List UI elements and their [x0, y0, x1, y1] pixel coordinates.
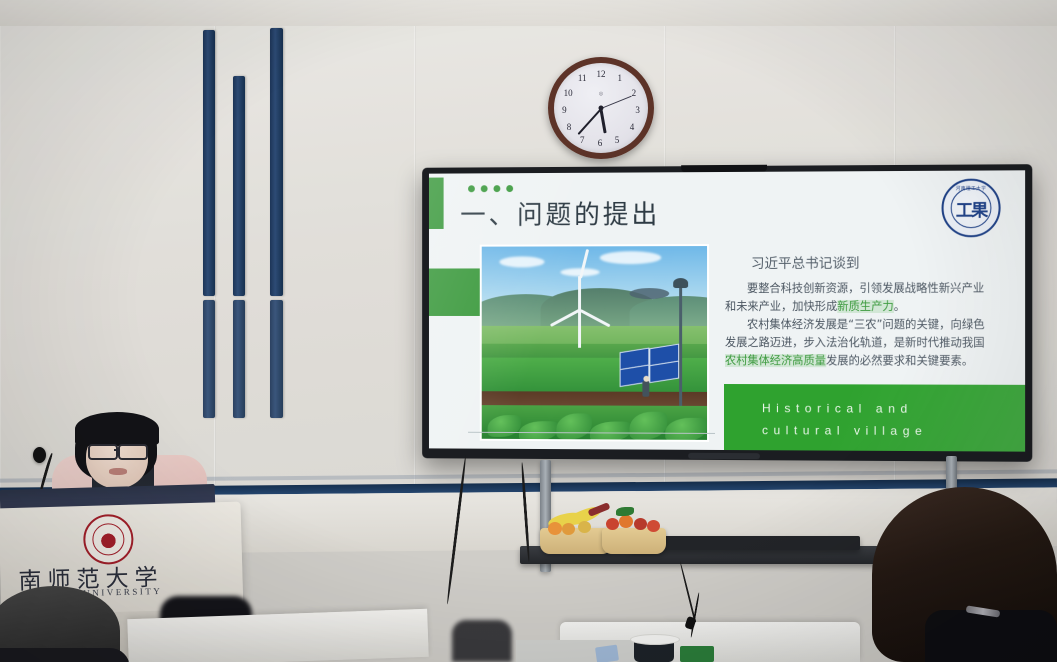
clock-center-pin [599, 106, 604, 111]
green-item [680, 646, 714, 662]
apple-fruit [634, 518, 647, 530]
conference-room-photo: ◎ 12 1 2 3 4 5 6 7 8 9 10 11 一、问题的提出 [0, 0, 1057, 662]
clock-number: 11 [578, 73, 587, 83]
clock-number: 9 [562, 105, 567, 115]
wall-clock: ◎ 12 1 2 3 4 5 6 7 8 9 10 11 [548, 57, 654, 159]
highlight-term-1: 新质生产力 [837, 300, 894, 313]
slide-photo [480, 244, 709, 442]
apple-fruit [619, 515, 633, 528]
farmer-figure [642, 381, 649, 397]
clock-number: 1 [618, 73, 623, 83]
clock-number: 3 [635, 105, 640, 115]
leafy-vegetable [616, 507, 634, 516]
clock-number: 4 [630, 122, 635, 132]
orange-fruit [562, 523, 575, 535]
display-chin [688, 453, 760, 459]
slide-body-text: 习近平总书记谈到 要整合科技创新资源，引领发展战略性新兴产业和未来产业，加快形成… [725, 253, 989, 371]
clock-second-hand [601, 96, 632, 109]
presenter-fringe [75, 412, 159, 446]
slide-title: 一、问题的提出 [460, 194, 660, 232]
slide-footer-text: Historical and cultural village [762, 397, 927, 442]
wall-stripe [233, 76, 245, 296]
presenter-mouth [109, 468, 127, 475]
presenter-glasses-right [118, 444, 148, 460]
wall-stripe [203, 300, 215, 418]
clock-number: 10 [564, 88, 573, 98]
foreground-table-left [127, 609, 428, 662]
presenter-glasses-left [88, 444, 118, 460]
street-lamp-pole [679, 284, 682, 406]
footer-line-1: Historical and [762, 397, 927, 420]
wall-stripe [203, 30, 215, 296]
display-screen: 一、问题的提出 河南理工大学 工果 [429, 170, 1025, 451]
university-seal-logo: 河南理工大学 工果 [942, 179, 1001, 238]
photo-mountain [630, 296, 710, 330]
blue-item [595, 645, 619, 662]
slide-dot-decoration [468, 185, 513, 192]
seal-arc-text: 河南理工大学 [944, 186, 999, 192]
seal-inner-ring: 工果 [951, 188, 992, 229]
slide-paragraph-2: 农村集体经济发展是“三农”问题的关键，向绿色发展之路迈进，步入法治化轨道，是新时… [725, 316, 989, 371]
wall-stripe [270, 28, 283, 296]
photo-cloud [499, 256, 544, 267]
lectern-seal [83, 514, 134, 565]
clock-minute-hand [578, 108, 602, 135]
farmer-head [643, 376, 649, 382]
wall-stripe [233, 300, 245, 418]
photo-cloud [600, 251, 661, 264]
footer-line-2: cultural village [762, 419, 927, 442]
clock-number: 7 [580, 135, 585, 145]
orange-fruit [578, 521, 591, 533]
audience-left-shoulders [0, 648, 130, 662]
orange-fruit [548, 522, 562, 535]
glasses-bridge [114, 449, 119, 451]
clock-brand: ◎ [599, 91, 603, 97]
photo-structure [630, 288, 670, 299]
street-lamp-head [673, 278, 688, 288]
slide-paragraph-1: 要整合科技创新资源，引领发展战略性新兴产业和未来产业，加快形成新质生产力。 [725, 280, 989, 317]
clock-number: 5 [615, 135, 620, 145]
fruit-basket-right [602, 528, 666, 554]
slide-body-heading: 习近平总书记谈到 [751, 253, 989, 275]
clock-number: 6 [598, 138, 603, 148]
cup-rim [630, 634, 680, 645]
presentation-slide: 一、问题的提出 河南理工大学 工果 [429, 170, 1025, 451]
clock-number: 12 [597, 69, 606, 79]
apple-fruit [606, 518, 619, 530]
clock-number: 2 [632, 88, 637, 98]
microphone-head [33, 447, 46, 463]
audience-silhouette [452, 620, 512, 662]
audience-right-shoulders [925, 610, 1057, 662]
highlight-term-2: 农村集体经济高质量 [725, 354, 826, 367]
wall-stripe [270, 300, 283, 418]
slide-accent-bar-top [429, 178, 444, 229]
clock-hour-hand [600, 109, 607, 133]
wall-display[interactable]: 一、问题的提出 河南理工大学 工果 [422, 164, 1032, 462]
seal-glyph: 工果 [956, 195, 987, 220]
slide-footer-band: Historical and cultural village [724, 384, 1025, 452]
clock-number: 8 [567, 122, 572, 132]
apple-fruit [647, 520, 660, 532]
